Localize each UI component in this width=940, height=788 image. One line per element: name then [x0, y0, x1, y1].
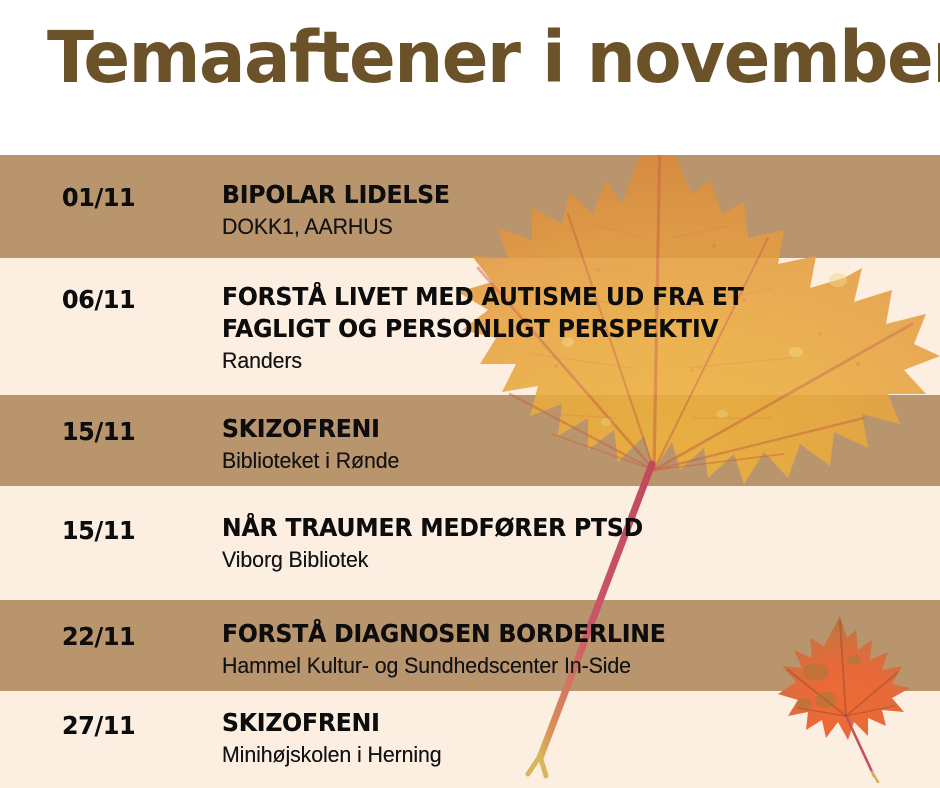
event-venue: Hammel Kultur- og Sundhedscenter In-Side: [222, 652, 909, 681]
event-title: FORSTÅ DIAGNOSEN BORDERLINE: [222, 618, 888, 650]
event-venue: DOKK1, AARHUS: [222, 213, 909, 242]
event-title: NÅR TRAUMER MEDFØRER PTSD: [222, 512, 888, 544]
poster-header: Temaaftener i november: [0, 0, 940, 155]
event-title: BIPOLAR LIDELSE: [222, 179, 888, 211]
event-list-text-overlay: 01/11 BIPOLAR LIDELSE DOKK1, AARHUS 06/1…: [0, 155, 940, 788]
event-title: SKIZOFRENI: [222, 413, 888, 445]
event-title: SKIZOFRENI: [222, 707, 888, 739]
event-title-line2: FAGLIGT OG PERSONLIGT PERSPEKTIV: [222, 313, 888, 345]
event-row-text: 15/11 SKIZOFRENI Biblioteket i Rønde: [0, 395, 940, 486]
event-venue: Randers: [222, 347, 909, 376]
page-title: Temaaftener i november: [47, 22, 881, 93]
event-row-text: 01/11 BIPOLAR LIDELSE DOKK1, AARHUS: [0, 155, 940, 258]
event-date: 06/11: [62, 285, 135, 314]
event-title: FORSTÅ LIVET MED AUTISME UD FRA ET: [222, 281, 888, 313]
event-date: 15/11: [62, 417, 135, 446]
event-date: 15/11: [62, 516, 135, 545]
event-date: 27/11: [62, 711, 135, 740]
event-venue: Viborg Bibliotek: [222, 546, 909, 575]
poster-canvas: 01/11 BIPOLAR LIDELSE DOKK1, AARHUS 06/1…: [0, 0, 940, 788]
event-row-text: 15/11 NÅR TRAUMER MEDFØRER PTSD Viborg B…: [0, 486, 940, 600]
event-venue: Biblioteket i Rønde: [222, 447, 909, 476]
event-date: 22/11: [62, 622, 135, 651]
event-row-text: 06/11 FORSTÅ LIVET MED AUTISME UD FRA ET…: [0, 258, 940, 395]
event-date: 01/11: [62, 183, 135, 212]
event-row-text: 22/11 FORSTÅ DIAGNOSEN BORDERLINE Hammel…: [0, 600, 940, 691]
event-venue: Minihøjskolen i Herning: [222, 741, 909, 770]
event-row-text: 27/11 SKIZOFRENI Minihøjskolen i Herning: [0, 691, 940, 788]
